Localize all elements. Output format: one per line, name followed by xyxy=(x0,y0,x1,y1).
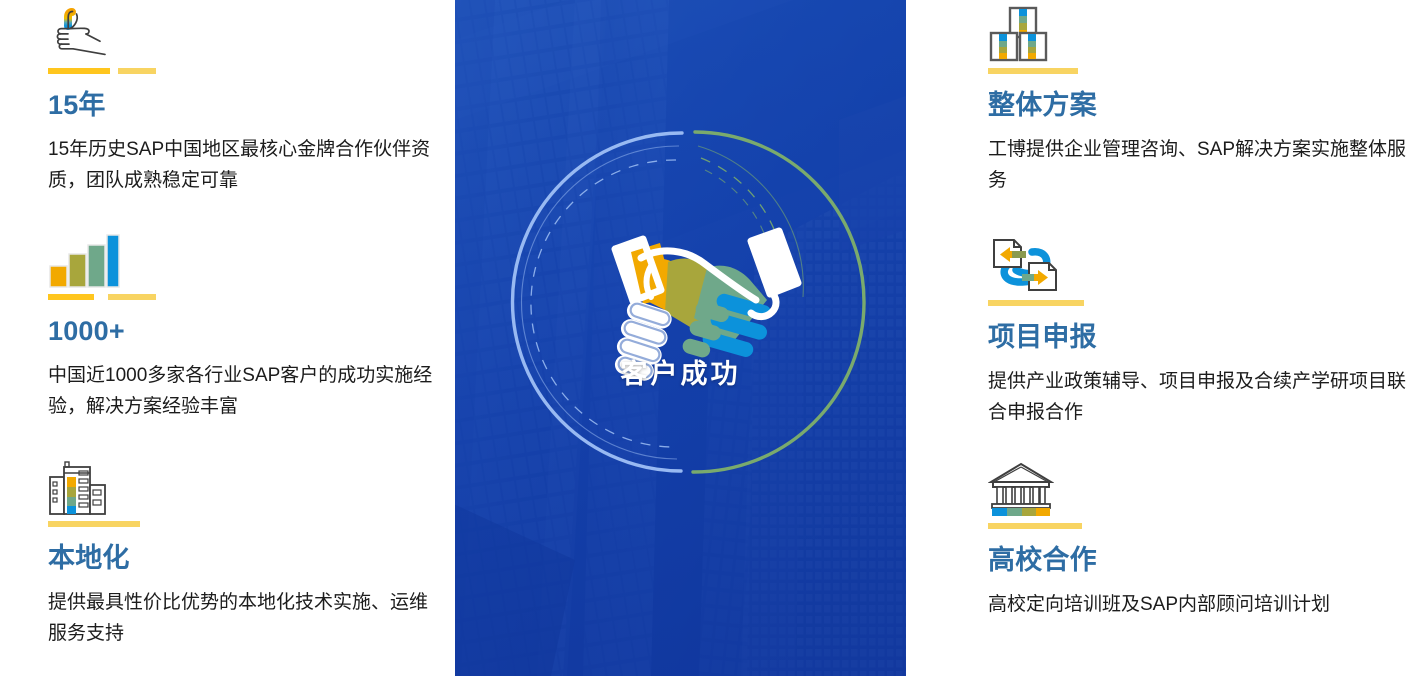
rule-segment xyxy=(988,523,1082,529)
rule-segment xyxy=(988,300,1084,306)
university-icon xyxy=(988,461,1408,517)
feature-title: 15年 xyxy=(48,90,443,121)
rule-segment xyxy=(988,68,1078,74)
feature-title: 1000+ xyxy=(48,316,443,347)
bar-chart-icon xyxy=(48,232,443,288)
feature-title: 高校合作 xyxy=(988,545,1408,576)
stacked-boxes-icon xyxy=(988,6,1408,62)
feature-description: 15年历史SAP中国地区最核心金牌合作伙伴资质，团队成熟稳定可靠 xyxy=(48,135,433,197)
title-rule xyxy=(48,68,443,74)
left-feature-column: 15年 15年历史SAP中国地区最核心金牌合作伙伴资质，团队成熟稳定可靠 100… xyxy=(48,0,443,676)
title-rule xyxy=(48,294,443,300)
title-rule xyxy=(48,521,443,527)
feature-card-total-solution: 整体方案 工博提供企业管理咨询、SAP解决方案实施整体服务 xyxy=(988,6,1408,197)
office-building-icon xyxy=(48,459,443,515)
feature-title: 项目申报 xyxy=(988,322,1408,353)
feature-card-15-years: 15年 15年历史SAP中国地区最核心金牌合作伙伴资质，团队成熟稳定可靠 xyxy=(48,6,443,197)
rule-segment xyxy=(48,294,94,300)
feature-card-university-cooperation: 高校合作 高校定向培训班及SAP内部顾问培训计划 xyxy=(988,461,1408,621)
feature-description: 高校定向培训班及SAP内部顾问培训计划 xyxy=(988,590,1408,621)
thumbs-up-icon xyxy=(48,6,443,62)
feature-grid-page: 15年 15年历史SAP中国地区最核心金牌合作伙伴资质，团队成熟稳定可靠 100… xyxy=(0,0,1411,676)
feature-description: 工博提供企业管理咨询、SAP解决方案实施整体服务 xyxy=(988,135,1408,197)
feature-card-project-application: 项目申报 提供产业政策辅导、项目申报及合续产学研项目联合申报合作 xyxy=(988,238,1408,429)
feature-description: 中国近1000多家各行业SAP客户的成功实施经验，解决方案经验丰富 xyxy=(48,361,433,423)
feature-card-localization: 本地化 提供最具性价比优势的本地化技术实施、运维服务支持 xyxy=(48,459,443,650)
hero-panel: 客户成功 xyxy=(455,0,906,676)
rule-segment xyxy=(48,68,110,74)
right-feature-column: 整体方案 工博提供企业管理咨询、SAP解决方案实施整体服务 xyxy=(988,0,1408,676)
title-rule xyxy=(988,523,1408,529)
feature-description: 提供最具性价比优势的本地化技术实施、运维服务支持 xyxy=(48,588,433,650)
feature-title: 本地化 xyxy=(48,543,443,574)
document-exchange-icon xyxy=(988,238,1408,294)
rule-segment xyxy=(48,521,140,527)
title-rule xyxy=(988,68,1408,74)
rule-segment xyxy=(108,294,156,300)
feature-card-1000-plus: 1000+ 中国近1000多家各行业SAP客户的成功实施经验，解决方案经验丰富 xyxy=(48,232,443,423)
rule-segment xyxy=(118,68,156,74)
rule-gap xyxy=(110,68,118,74)
hero-label: 客户成功 xyxy=(455,352,906,391)
hero-artwork xyxy=(455,0,906,676)
feature-description: 提供产业政策辅导、项目申报及合续产学研项目联合申报合作 xyxy=(988,367,1408,429)
title-rule xyxy=(988,300,1408,306)
feature-title: 整体方案 xyxy=(988,90,1408,121)
rule-gap xyxy=(94,294,108,300)
